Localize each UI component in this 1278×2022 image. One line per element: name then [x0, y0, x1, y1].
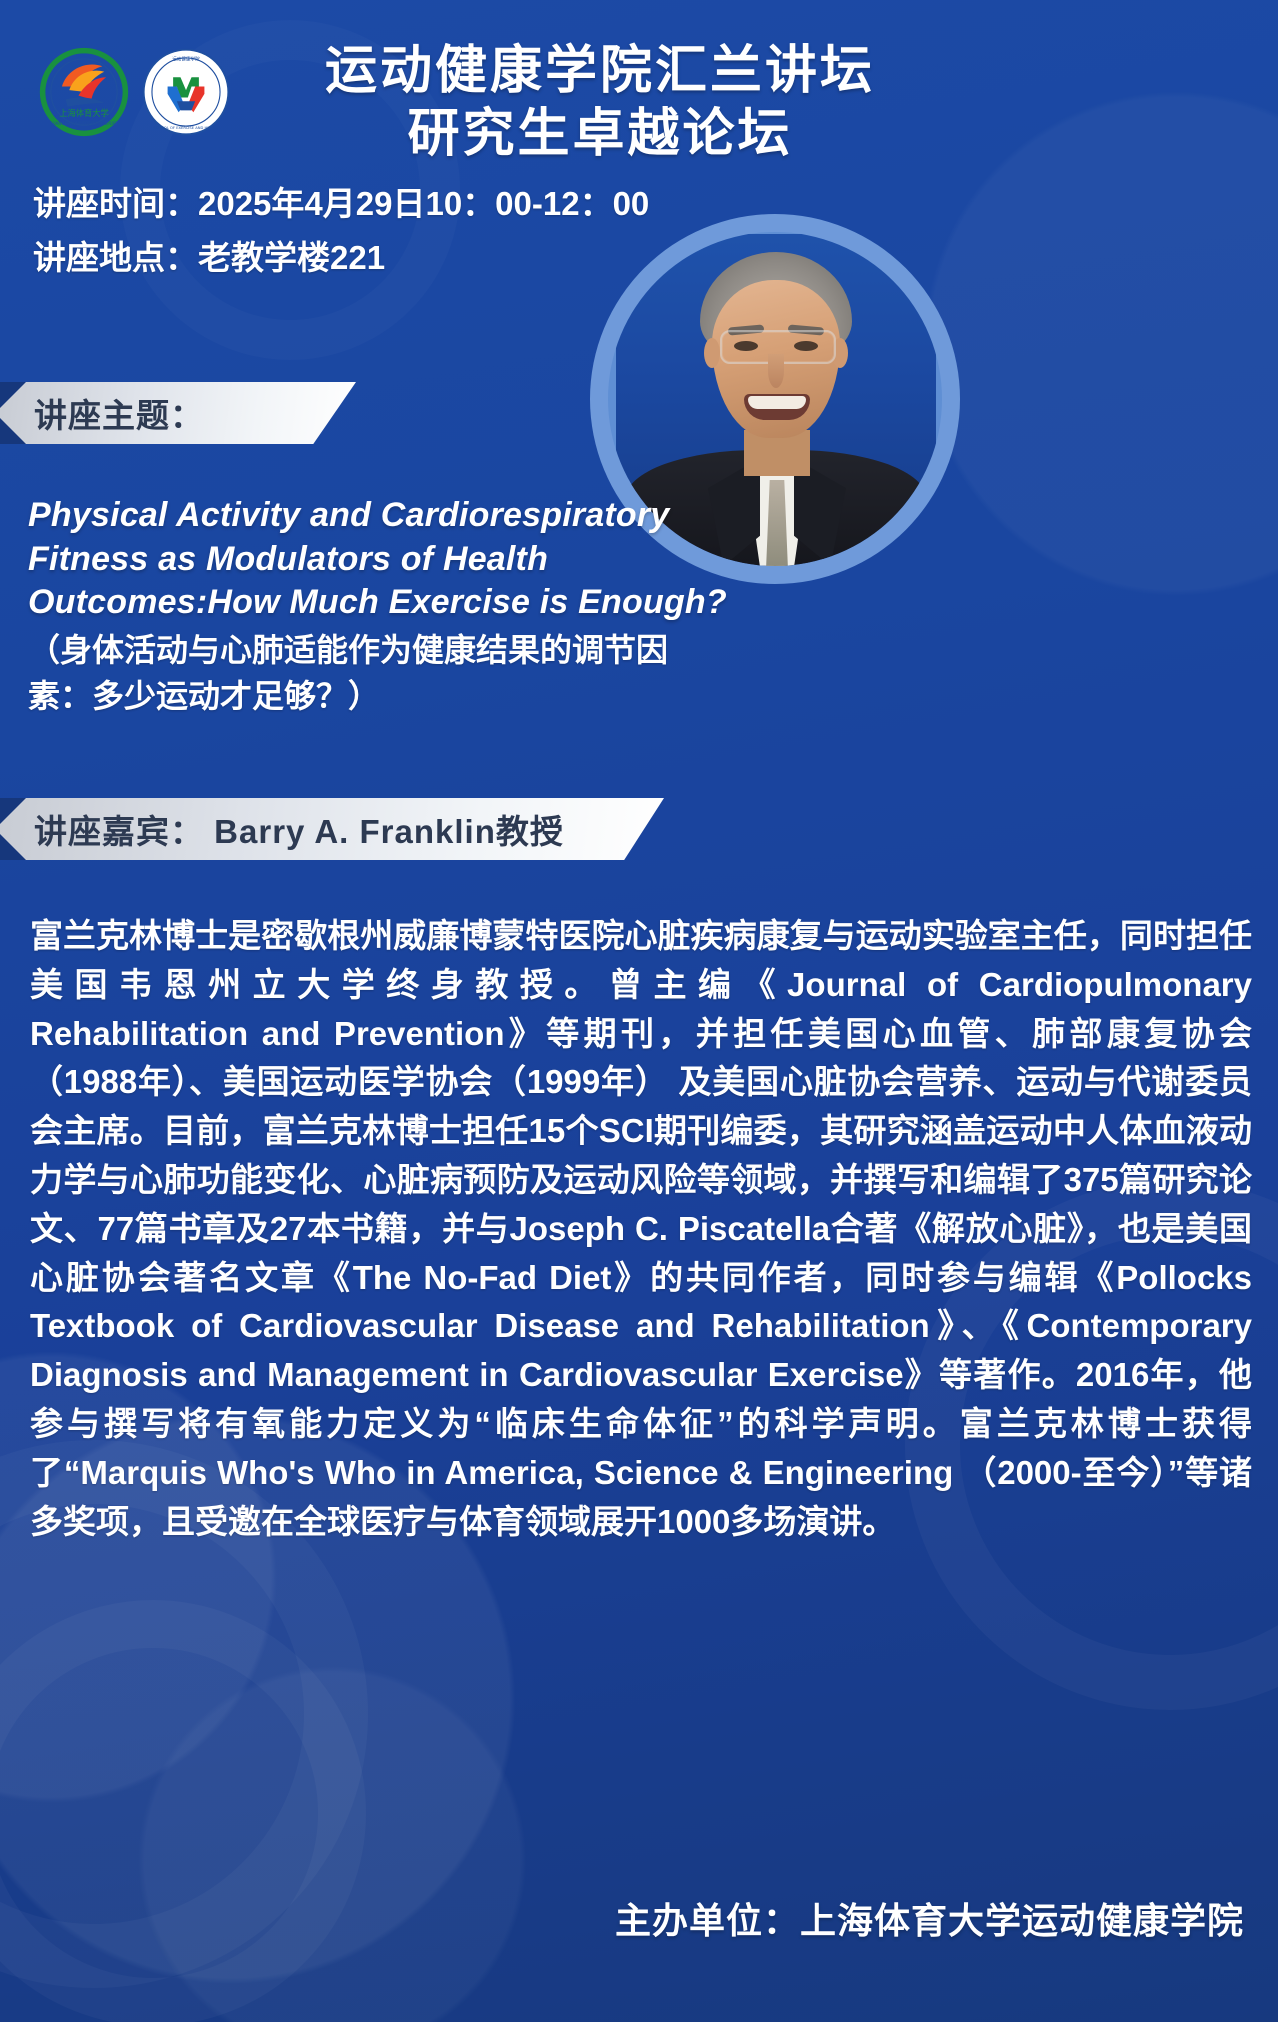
svg-text:SHANGHAI UNIVERSITY OF SPORT: SHANGHAI UNIVERSITY OF SPORT [50, 121, 118, 126]
svg-text:SCHOOL OF EXERCISE AND HEALTH: SCHOOL OF EXERCISE AND HEALTH [153, 126, 218, 130]
topic-cn-line-2: 素：多少运动才足够？） [28, 675, 788, 718]
topic-en-line-1: Physical Activity and Cardiorespiratory [28, 494, 788, 538]
topic-ribbon: 讲座主题： [0, 382, 356, 444]
speaker-bio: 富兰克林博士是密歇根州威廉博蒙特医院心脏疾病康复与运动实验室主任，同时担任美国韦… [30, 912, 1252, 1546]
topic-title-block: Physical Activity and Cardiorespiratory … [28, 494, 788, 718]
lecture-poster: 上海体育大学 SHANGHAI UNIVERSITY OF SPORT 运动健康… [0, 0, 1278, 2022]
topic-en-line-3: Outcomes:How Much Exercise is Enough? [28, 581, 788, 625]
topic-cn-line-1: （身体活动与心肺适能作为健康结果的调节因 [28, 629, 788, 672]
logo-group: 上海体育大学 SHANGHAI UNIVERSITY OF SPORT 运动健康… [38, 46, 232, 138]
topic-ribbon-label: 讲座主题： [34, 389, 204, 437]
school-of-exercise-and-health-logo: 运动健康学院 SCHOOL OF EXERCISE AND HEALTH [140, 46, 232, 138]
guest-ribbon: 讲座嘉宾： Barry A. Franklin教授 [0, 798, 664, 860]
svg-text:上海体育大学: 上海体育大学 [59, 108, 109, 118]
guest-ribbon-label: 讲座嘉宾： Barry A. Franklin教授 [34, 805, 564, 853]
topic-en-line-2: Fitness as Modulators of Health [28, 538, 788, 582]
shanghai-university-of-sport-logo: 上海体育大学 SHANGHAI UNIVERSITY OF SPORT [38, 46, 130, 138]
poster-title: 运动健康学院汇兰讲坛 研究生卓越论坛 [250, 40, 950, 167]
title-line-1: 运动健康学院汇兰讲坛 [250, 40, 950, 103]
title-line-2: 研究生卓越论坛 [250, 103, 950, 166]
organizer-line: 主办单位：上海体育大学运动健康学院 [615, 1892, 1244, 1944]
